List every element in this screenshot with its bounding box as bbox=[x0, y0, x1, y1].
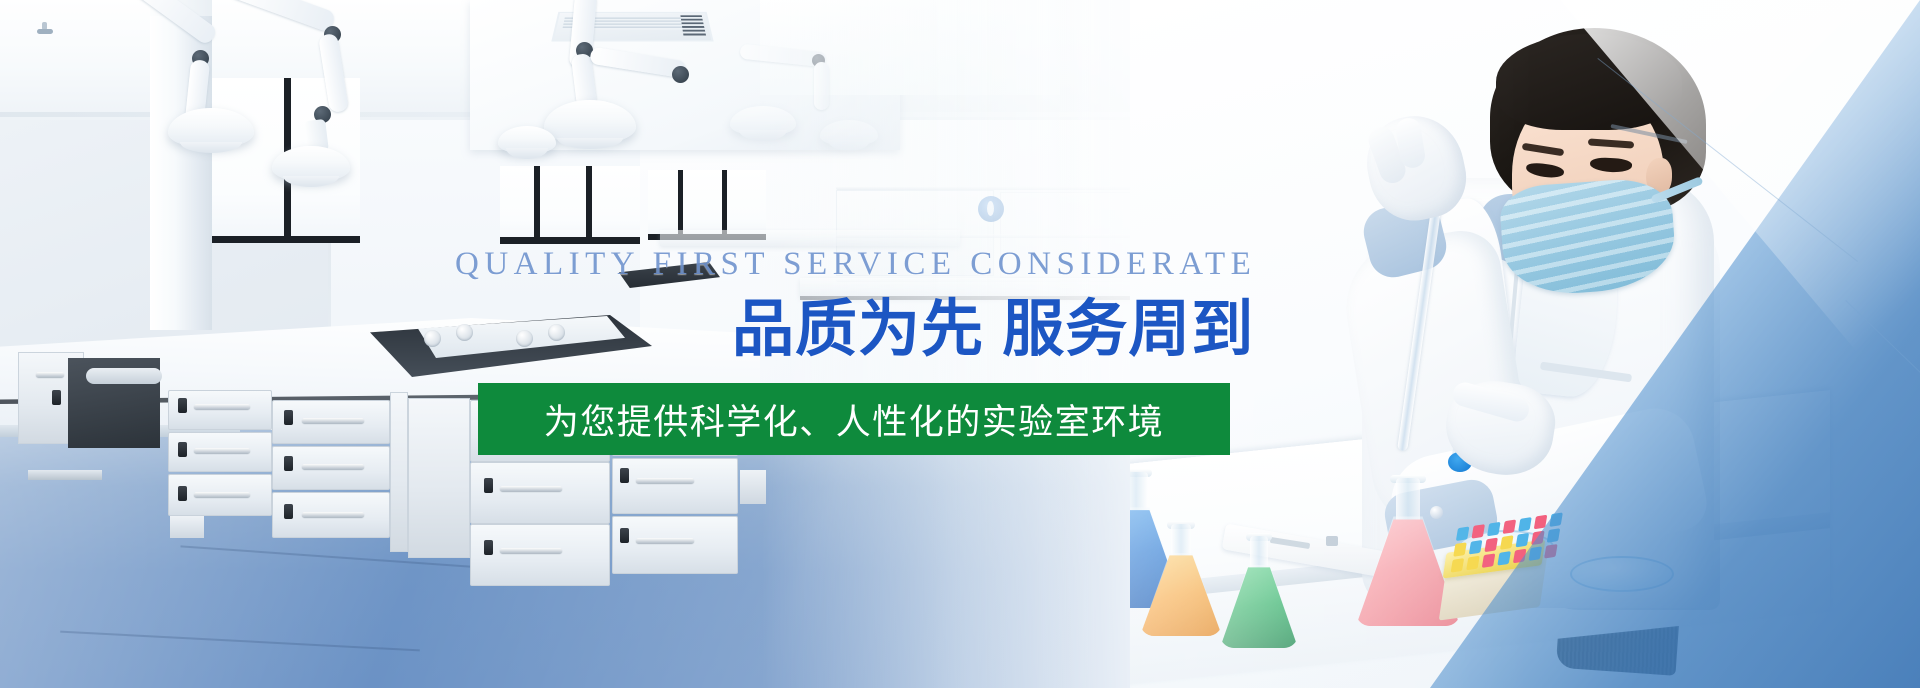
banner-headline: 品质为先 服务周到 bbox=[732, 297, 1254, 364]
hero-banner: QUALITY FIRST SERVICE CONSIDERATE 品质为先 服… bbox=[0, 0, 1920, 688]
banner-tagline-bar: 为您提供科学化、人性化的实验室环境 bbox=[478, 383, 1230, 455]
banner-eyebrow-text: QUALITY FIRST SERVICE CONSIDERATE bbox=[455, 248, 1256, 281]
banner-tagline-text: 为您提供科学化、人性化的实验室环境 bbox=[478, 383, 1230, 455]
banner-text-block: QUALITY FIRST SERVICE CONSIDERATE 品质为先 服… bbox=[0, 0, 1920, 688]
